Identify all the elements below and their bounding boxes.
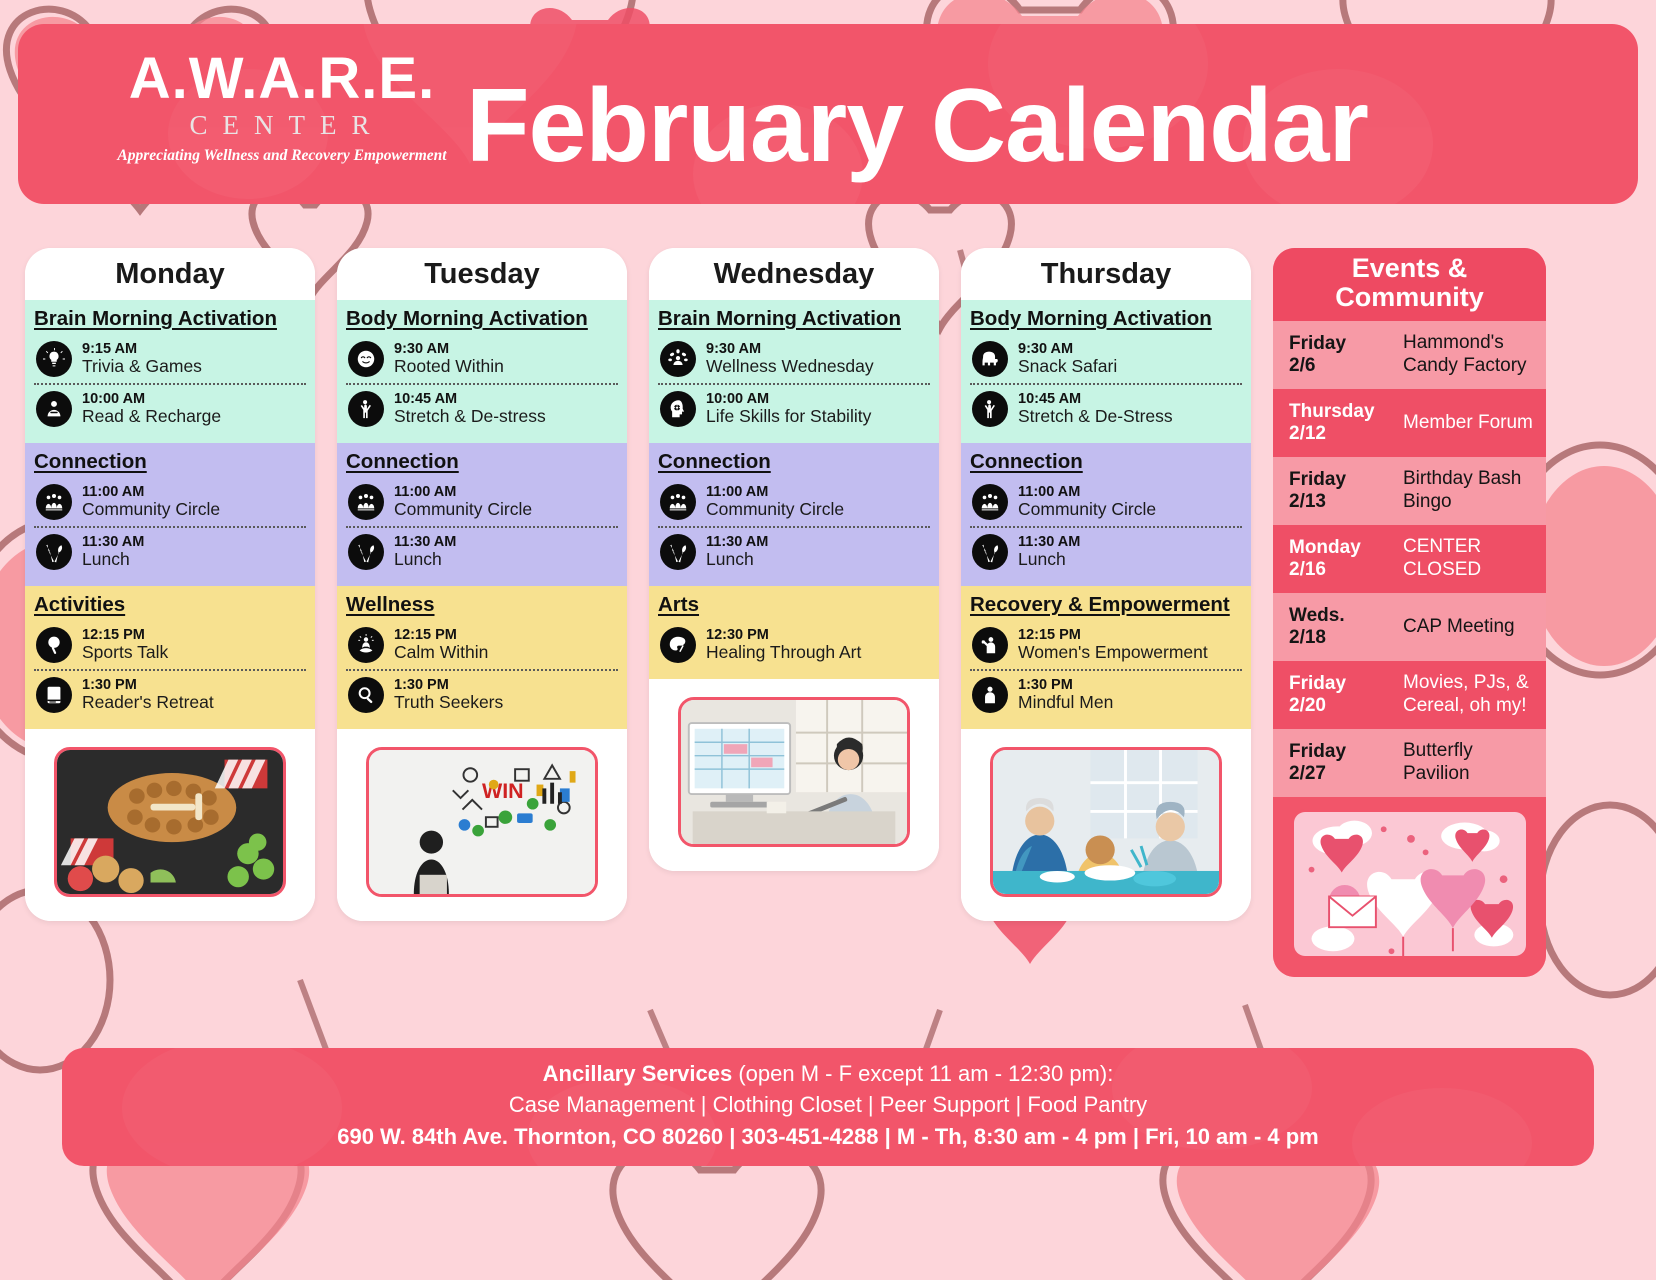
event-row[interactable]: 12:15 PMCalm Within <box>346 621 618 669</box>
event-name: Rooted Within <box>394 357 504 377</box>
community-event-weekday: Friday <box>1289 673 1393 695</box>
event-row[interactable]: 11:00 AMCommunity Circle <box>970 478 1242 526</box>
community-event-daynum: 2/18 <box>1289 627 1393 649</box>
event-name: Calm Within <box>394 643 488 663</box>
community-event-title: Hammond's Candy Factory <box>1403 332 1534 378</box>
community-event-row[interactable]: Friday2/6Hammond's Candy Factory <box>1273 321 1546 389</box>
events-panel-title: Events & Community <box>1273 248 1546 321</box>
event-name: Truth Seekers <box>394 693 503 713</box>
event-time: 10:45 AM <box>394 391 546 407</box>
man-with-ideas-doodles-win-board-photo: WIN <box>366 747 598 897</box>
block-title: Connection <box>658 450 930 474</box>
event-text: 9:30 AMWellness Wednesday <box>706 341 874 377</box>
woman-raising-icon <box>972 627 1008 663</box>
community-event-title: Member Forum <box>1403 412 1533 435</box>
day-name-heading: Monday <box>25 248 315 300</box>
event-row[interactable]: 10:45 AMStretch & De-stress <box>346 383 618 433</box>
community-event-date: Weds.2/18 <box>1289 605 1393 650</box>
schedule-block: Brain Morning Activation9:30 AMWellness … <box>649 300 939 443</box>
event-text: 11:00 AMCommunity Circle <box>1018 484 1156 520</box>
block-title: Brain Morning Activation <box>34 307 306 331</box>
event-time: 10:45 AM <box>1018 391 1173 407</box>
event-name: Community Circle <box>394 500 532 520</box>
event-row[interactable]: 12:15 PMWomen's Empowerment <box>970 621 1242 669</box>
day-column-wednesday: WednesdayBrain Morning Activation9:30 AM… <box>649 248 939 871</box>
event-row[interactable]: 11:30 AMLunch <box>658 526 930 576</box>
day-name-heading: Thursday <box>961 248 1251 300</box>
schedule-block: Connection11:00 AMCommunity Circle11:30 … <box>337 443 627 586</box>
event-text: 11:00 AMCommunity Circle <box>82 484 220 520</box>
block-title: Wellness <box>346 593 618 617</box>
schedule-block: Connection11:00 AMCommunity Circle11:30 … <box>25 443 315 586</box>
event-time: 11:00 AM <box>394 484 532 500</box>
event-time: 11:30 AM <box>1018 534 1080 550</box>
logo-tagline: Appreciating Wellness and Recovery Empow… <box>92 147 472 165</box>
event-row[interactable]: 11:00 AMCommunity Circle <box>34 478 306 526</box>
event-time: 11:00 AM <box>706 484 844 500</box>
event-name: Community Circle <box>1018 500 1156 520</box>
event-text: 9:15 AMTrivia & Games <box>82 341 202 377</box>
football-pretzel-snack-platter-photo <box>54 747 286 897</box>
community-event-weekday: Friday <box>1289 469 1393 491</box>
page-title: February Calendar <box>466 72 1368 181</box>
community-event-date: Friday2/6 <box>1289 333 1393 378</box>
man-suit-icon <box>972 677 1008 713</box>
elephant-icon <box>972 341 1008 377</box>
event-time: 9:30 AM <box>1018 341 1117 357</box>
stretching-person-icon <box>348 391 384 427</box>
event-row[interactable]: 12:15 PMSports Talk <box>34 621 306 669</box>
stretching-person-icon <box>972 391 1008 427</box>
community-event-row[interactable]: Friday2/20Movies, PJs, & Cereal, oh my! <box>1273 661 1546 729</box>
event-row[interactable]: 1:30 PMMindful Men <box>970 669 1242 719</box>
event-time: 12:15 PM <box>1018 627 1208 643</box>
event-text: 11:30 AMLunch <box>1018 534 1080 570</box>
svg-text:WIN: WIN <box>482 779 524 803</box>
community-event-weekday: Monday <box>1289 537 1393 559</box>
event-text: 1:30 PMTruth Seekers <box>394 677 503 713</box>
event-name: Sports Talk <box>82 643 168 663</box>
event-text: 11:00 AMCommunity Circle <box>394 484 532 520</box>
footer-ancillary-line: Ancillary Services (open M - F except 11… <box>62 1061 1594 1087</box>
event-text: 11:30 AMLunch <box>82 534 144 570</box>
event-time: 11:30 AM <box>706 534 768 550</box>
event-name: Mindful Men <box>1018 693 1113 713</box>
footer-contact-line: 690 W. 84th Ave. Thornton, CO 80260 | 30… <box>62 1124 1594 1150</box>
event-time: 11:30 AM <box>394 534 456 550</box>
event-text: 10:00 AMLife Skills for Stability <box>706 391 871 427</box>
footer-ancillary-bold: Ancillary Services <box>543 1061 733 1086</box>
event-time: 12:15 PM <box>82 627 168 643</box>
event-text: 9:30 AMSnack Safari <box>1018 341 1117 377</box>
block-title: Activities <box>34 593 306 617</box>
events-community-panel: Events & Community Friday2/6Hammond's Ca… <box>1273 248 1546 977</box>
block-title: Connection <box>346 450 618 474</box>
community-event-date: Thursday2/12 <box>1289 401 1393 446</box>
footer-services-line: Case Management | Clothing Closet | Peer… <box>62 1092 1594 1118</box>
event-name: Lunch <box>394 550 456 570</box>
event-name: Community Circle <box>706 500 844 520</box>
logo-aware-text: A.W.A.R.E. <box>92 50 472 108</box>
event-name: Reader's Retreat <box>82 693 214 713</box>
events-title-line2: Community <box>1281 283 1538 312</box>
community-event-row[interactable]: Thursday2/12Member Forum <box>1273 389 1546 457</box>
event-name: Stretch & De-Stress <box>1018 407 1173 427</box>
event-name: Women's Empowerment <box>1018 643 1208 663</box>
event-time: 12:15 PM <box>394 627 488 643</box>
aware-center-logo: A.W.A.R.E. CENTER Appreciating Wellness … <box>92 50 472 165</box>
block-title: Connection <box>970 450 1242 474</box>
event-row[interactable]: 9:30 AMSnack Safari <box>970 335 1242 383</box>
event-text: 11:30 AMLunch <box>706 534 768 570</box>
event-text: 12:15 PMSports Talk <box>82 627 168 663</box>
event-time: 9:15 AM <box>82 341 202 357</box>
day-name-heading: Tuesday <box>337 248 627 300</box>
event-time: 9:30 AM <box>706 341 874 357</box>
column-photo-wrap <box>25 729 315 921</box>
valentine-hearts-pattern-photo <box>1291 809 1529 959</box>
event-name: Snack Safari <box>1018 357 1117 377</box>
schedule-block: Connection11:00 AMCommunity Circle11:30 … <box>649 443 939 586</box>
community-event-daynum: 2/20 <box>1289 695 1393 717</box>
event-time: 9:30 AM <box>394 341 504 357</box>
event-time: 12:30 PM <box>706 627 861 643</box>
calm-face-icon <box>348 341 384 377</box>
community-event-date: Friday2/27 <box>1289 741 1393 786</box>
head-gear-icon <box>660 391 696 427</box>
community-event-daynum: 2/27 <box>1289 763 1393 785</box>
footer-banner: Ancillary Services (open M - F except 11… <box>62 1048 1594 1166</box>
event-text: 10:00 AMRead & Recharge <box>82 391 221 427</box>
event-text: 11:30 AMLunch <box>394 534 456 570</box>
event-name: Lunch <box>82 550 144 570</box>
event-name: Trivia & Games <box>82 357 202 377</box>
event-name: Lunch <box>706 550 768 570</box>
block-title: Body Morning Activation <box>970 307 1242 331</box>
group-hands-up-icon <box>660 484 696 520</box>
community-event-weekday: Friday <box>1289 741 1393 763</box>
event-time: 10:00 AM <box>706 391 871 407</box>
community-event-date: Friday2/13 <box>1289 469 1393 514</box>
block-title: Connection <box>34 450 306 474</box>
community-event-title: Birthday Bash Bingo <box>1403 468 1534 514</box>
day-column-thursday: ThursdayBody Morning Activation9:30 AMSn… <box>961 248 1251 921</box>
fork-knife-icon <box>972 534 1008 570</box>
event-text: 12:30 PMHealing Through Art <box>706 627 861 663</box>
event-text: 9:30 AMRooted Within <box>394 341 504 377</box>
event-name: Community Circle <box>82 500 220 520</box>
event-row[interactable]: 9:15 AMTrivia & Games <box>34 335 306 383</box>
event-row[interactable]: 9:30 AMRooted Within <box>346 335 618 383</box>
magnifying-glass-icon <box>348 677 384 713</box>
schedule-block: Activities12:15 PMSports Talk1:30 PMRead… <box>25 586 315 729</box>
community-event-weekday: Weds. <box>1289 605 1393 627</box>
header-banner: A.W.A.R.E. CENTER Appreciating Wellness … <box>18 24 1638 204</box>
book-icon <box>36 677 72 713</box>
community-event-row[interactable]: Monday2/16CENTER CLOSED <box>1273 525 1546 593</box>
event-text: 1:30 PMMindful Men <box>1018 677 1113 713</box>
event-name: Wellness Wednesday <box>706 357 874 377</box>
event-row[interactable]: 11:00 AMCommunity Circle <box>346 478 618 526</box>
group-hands-up-icon <box>348 484 384 520</box>
event-row[interactable]: 10:45 AMStretch & De-Stress <box>970 383 1242 433</box>
fork-knife-icon <box>660 534 696 570</box>
event-text: 12:15 PMCalm Within <box>394 627 488 663</box>
event-row[interactable]: 11:00 AMCommunity Circle <box>658 478 930 526</box>
schedule-block: Recovery & Empowerment12:15 PMWomen's Em… <box>961 586 1251 729</box>
column-photo-wrap <box>961 729 1251 921</box>
event-text: 10:45 AMStretch & De-stress <box>394 391 546 427</box>
column-photo-wrap <box>649 679 939 871</box>
event-text: 10:45 AMStretch & De-Stress <box>1018 391 1173 427</box>
schedule-block: Brain Morning Activation9:15 AMTrivia & … <box>25 300 315 443</box>
event-row[interactable]: 11:30 AMLunch <box>34 526 306 576</box>
event-name: Read & Recharge <box>82 407 221 427</box>
day-name-heading: Wednesday <box>649 248 939 300</box>
person-reading-icon <box>36 391 72 427</box>
community-event-title: CENTER CLOSED <box>1403 536 1534 582</box>
events-list: Friday2/6Hammond's Candy FactoryThursday… <box>1273 321 1546 797</box>
event-row[interactable]: 10:00 AMRead & Recharge <box>34 383 306 433</box>
event-text: 12:15 PMWomen's Empowerment <box>1018 627 1208 663</box>
schedule-block: Body Morning Activation9:30 AMRooted Wit… <box>337 300 627 443</box>
event-row[interactable]: 11:30 AMLunch <box>346 526 618 576</box>
event-name: Life Skills for Stability <box>706 407 871 427</box>
event-name: Stretch & De-stress <box>394 407 546 427</box>
event-name: Healing Through Art <box>706 643 861 663</box>
event-text: 1:30 PMReader's Retreat <box>82 677 214 713</box>
group-hands-up-icon <box>36 484 72 520</box>
community-event-title: Movies, PJs, & Cereal, oh my! <box>1403 672 1534 718</box>
event-time: 10:00 AM <box>82 391 221 407</box>
community-event-date: Monday2/16 <box>1289 537 1393 582</box>
event-row[interactable]: 12:30 PMHealing Through Art <box>658 621 930 669</box>
event-time: 11:30 AM <box>82 534 144 550</box>
block-title: Arts <box>658 593 930 617</box>
meditation-icon <box>348 627 384 663</box>
footer-ancillary-rest: (open M - F except 11 am - 12:30 pm): <box>732 1061 1113 1086</box>
schedule-block: Arts12:30 PMHealing Through Art <box>649 586 939 679</box>
lightbulb-icon <box>36 341 72 377</box>
event-row[interactable]: 10:00 AMLife Skills for Stability <box>658 383 930 433</box>
community-event-row[interactable]: Friday2/27Butterfly Pavilion <box>1273 729 1546 797</box>
schedule-block: Body Morning Activation9:30 AMSnack Safa… <box>961 300 1251 443</box>
event-row[interactable]: 1:30 PMTruth Seekers <box>346 669 618 719</box>
block-title: Brain Morning Activation <box>658 307 930 331</box>
event-row[interactable]: 11:30 AMLunch <box>970 526 1242 576</box>
paint-palette-icon <box>660 627 696 663</box>
logo-center-text: CENTER <box>102 110 472 141</box>
event-time: 11:00 AM <box>1018 484 1156 500</box>
event-row[interactable]: 9:30 AMWellness Wednesday <box>658 335 930 383</box>
day-column-tuesday: TuesdayBody Morning Activation9:30 AMRoo… <box>337 248 627 921</box>
community-event-daynum: 2/6 <box>1289 355 1393 377</box>
event-text: 11:00 AMCommunity Circle <box>706 484 844 520</box>
event-row[interactable]: 1:30 PMReader's Retreat <box>34 669 306 719</box>
event-time: 1:30 PM <box>82 677 214 693</box>
event-time: 1:30 PM <box>1018 677 1113 693</box>
column-photo-wrap: WIN <box>337 729 627 921</box>
ping-pong-paddle-icon <box>36 627 72 663</box>
community-event-daynum: 2/13 <box>1289 491 1393 513</box>
community-event-weekday: Friday <box>1289 333 1393 355</box>
block-title: Recovery & Empowerment <box>970 593 1242 617</box>
group-hands-up-icon <box>972 484 1008 520</box>
schedule-block: Wellness12:15 PMCalm Within1:30 PMTruth … <box>337 586 627 729</box>
fork-knife-icon <box>348 534 384 570</box>
community-event-date: Friday2/20 <box>1289 673 1393 718</box>
block-title: Body Morning Activation <box>346 307 618 331</box>
community-event-title: Butterfly Pavilion <box>1403 740 1534 786</box>
community-event-daynum: 2/12 <box>1289 423 1393 445</box>
event-name: Lunch <box>1018 550 1080 570</box>
schedule-block: Connection11:00 AMCommunity Circle11:30 … <box>961 443 1251 586</box>
woman-at-desk-with-monitor-calendar-photo <box>678 697 910 847</box>
event-time: 11:00 AM <box>82 484 220 500</box>
community-event-row[interactable]: Weds.2/18CAP Meeting <box>1273 593 1546 661</box>
community-event-title: CAP Meeting <box>1403 616 1515 639</box>
community-event-weekday: Thursday <box>1289 401 1393 423</box>
events-photo-wrap <box>1273 797 1546 977</box>
wellness-person-icon <box>660 341 696 377</box>
seniors-sharing-meal-at-table-photo <box>990 747 1222 897</box>
community-event-daynum: 2/16 <box>1289 559 1393 581</box>
day-column-monday: MondayBrain Morning Activation9:15 AMTri… <box>25 248 315 921</box>
event-time: 1:30 PM <box>394 677 503 693</box>
community-event-row[interactable]: Friday2/13Birthday Bash Bingo <box>1273 457 1546 525</box>
fork-knife-icon <box>36 534 72 570</box>
events-title-line1: Events & <box>1281 254 1538 283</box>
